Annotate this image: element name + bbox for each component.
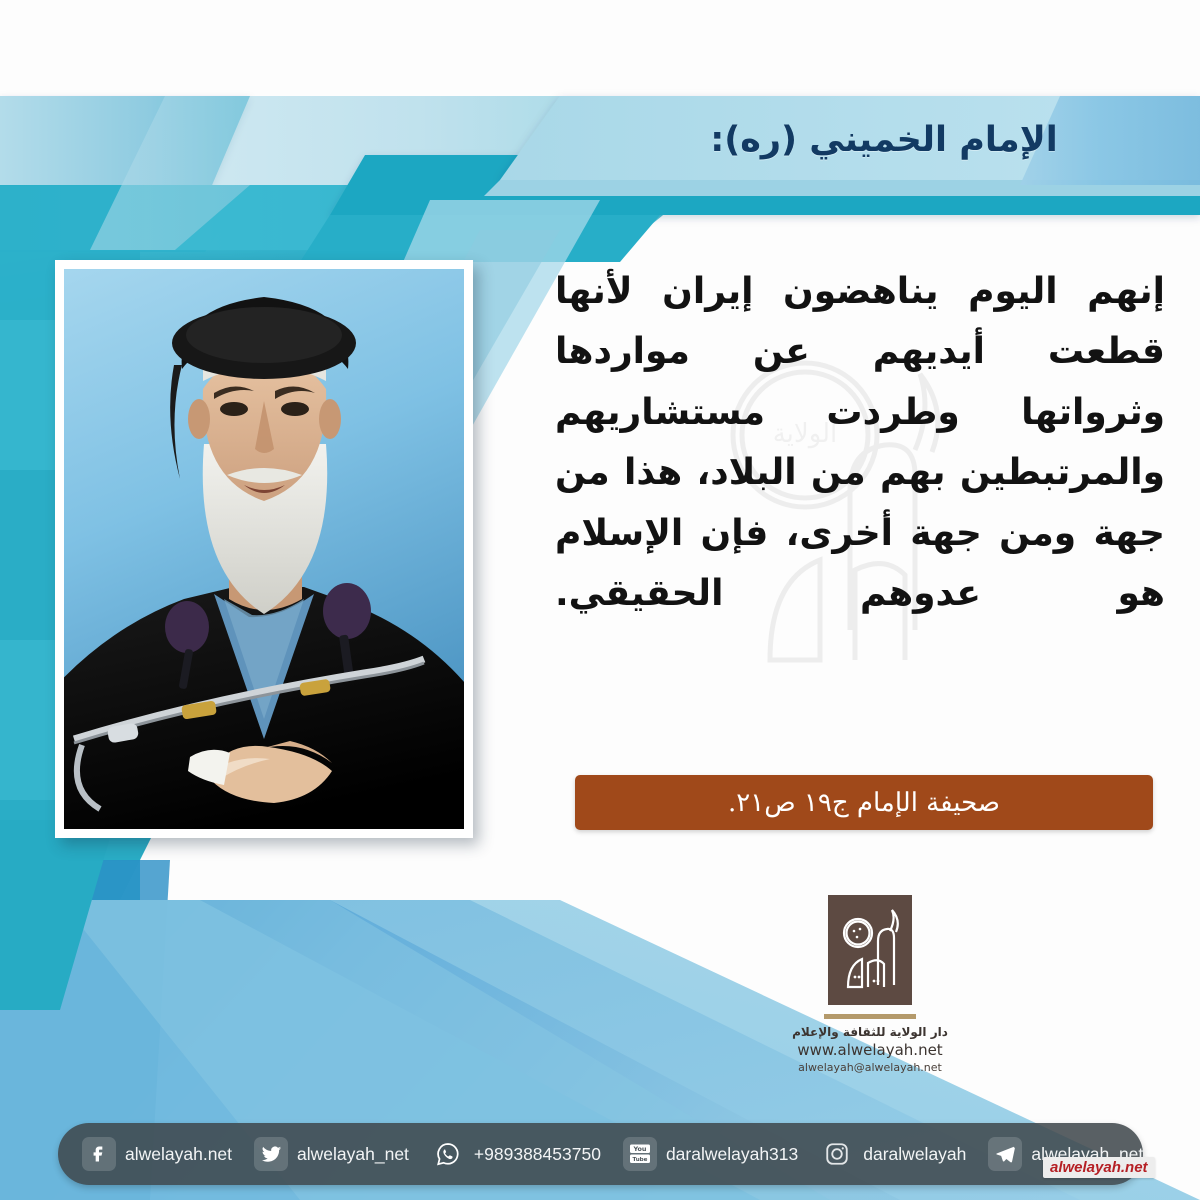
social-label-youtube: daralwelayah313 (666, 1144, 798, 1165)
instagram-icon (820, 1137, 854, 1171)
header-title-banner: الإمام الخميني (ره): (612, 104, 1200, 176)
svg-text:You: You (632, 1145, 646, 1153)
brand-divider (824, 1014, 916, 1019)
social-label-instagram: daralwelayah (863, 1144, 966, 1165)
portrait-illustration (64, 269, 464, 829)
social-item-instagram[interactable]: daralwelayah (820, 1137, 966, 1171)
quote-text: إنهم اليوم يناهضون إيران لأنها قطعت أيدي… (555, 262, 1165, 625)
portrait-frame (55, 260, 473, 838)
social-item-twitter[interactable]: alwelayah_net (254, 1137, 409, 1171)
brand-website[interactable]: www.alwelayah.net (797, 1041, 942, 1059)
quote-block: إنهم اليوم يناهضون إيران لأنها قطعت أيدي… (555, 262, 1165, 625)
social-item-youtube[interactable]: You Tube daralwelayah313 (623, 1137, 798, 1171)
citation-bar: صحيفة الإمام ج١٩ ص٢١. (575, 775, 1153, 830)
page-title: الإمام الخميني (ره): (710, 120, 1058, 160)
poster-canvas: الولاية الإمام الخميني (ره): (0, 0, 1200, 1200)
social-label-whatsapp: +989388453750 (474, 1144, 601, 1165)
social-label-facebook: alwelayah.net (125, 1144, 232, 1165)
brand-email[interactable]: alwelayah@alwelayah.net (798, 1061, 942, 1074)
whatsapp-icon (431, 1137, 465, 1171)
svg-text:Tube: Tube (632, 1157, 647, 1163)
site-watermark: alwelayah.net (1043, 1157, 1155, 1178)
brand-block: دار الولاية للثقافة والإعلام www.alwelay… (760, 895, 980, 1074)
telegram-icon (988, 1137, 1022, 1171)
social-item-facebook[interactable]: alwelayah.net (82, 1137, 232, 1171)
social-bar: alwelayah.net alwelayah_net +98938845375… (58, 1123, 1143, 1185)
dar-alwelayah-logo-icon (828, 895, 912, 1005)
social-item-whatsapp[interactable]: +989388453750 (431, 1137, 601, 1171)
citation-text: صحيفة الإمام ج١٩ ص٢١. (728, 788, 1000, 818)
social-label-twitter: alwelayah_net (297, 1144, 409, 1165)
youtube-icon: You Tube (623, 1137, 657, 1171)
brand-name: دار الولاية للثقافة والإعلام (792, 1025, 948, 1039)
twitter-icon (254, 1137, 288, 1171)
facebook-icon (82, 1137, 116, 1171)
portrait-photo (64, 269, 464, 829)
